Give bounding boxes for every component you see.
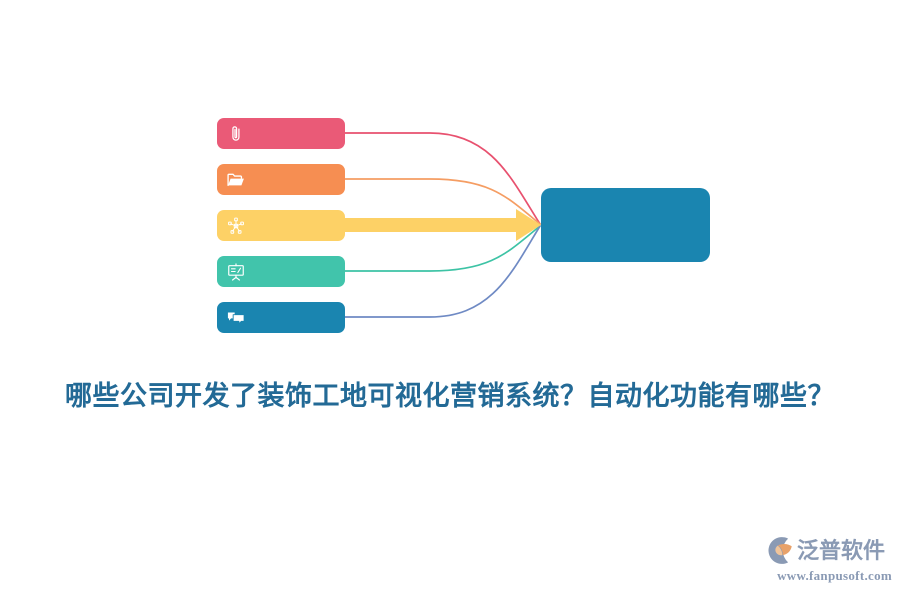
folder-open-icon	[226, 170, 246, 190]
brand-watermark: 泛普软件 www.fanpusoft.com	[766, 534, 892, 586]
flow-node-4[interactable]	[217, 256, 345, 287]
flow-node-3[interactable]	[217, 210, 345, 241]
page-title: 哪些公司开发了装饰工地可视化营销系统？自动化功能有哪些？	[0, 374, 900, 413]
highlight-arrow	[345, 209, 541, 241]
paperclip-icon	[226, 124, 246, 144]
page-root: 哪些公司开发了装饰工地可视化营销系统？自动化功能有哪些？ 泛普软件 www.fa…	[0, 0, 900, 600]
flow-node-2[interactable]	[217, 164, 345, 195]
flow-node-5[interactable]	[217, 302, 345, 333]
chat-bubbles-icon	[226, 308, 246, 328]
target-node[interactable]	[541, 188, 710, 262]
brand-url: www.fanpusoft.com	[766, 568, 892, 584]
convergence-flow-diagram	[0, 0, 900, 360]
connector-line-2	[345, 179, 540, 224]
flow-connectors	[0, 0, 900, 360]
flow-node-1[interactable]	[217, 118, 345, 149]
connector-line-4	[345, 226, 540, 271]
brand-name: 泛普软件	[797, 540, 885, 562]
network-hub-icon	[226, 216, 246, 236]
presentation-board-icon	[226, 262, 246, 282]
fanpu-logo-icon	[766, 536, 795, 565]
